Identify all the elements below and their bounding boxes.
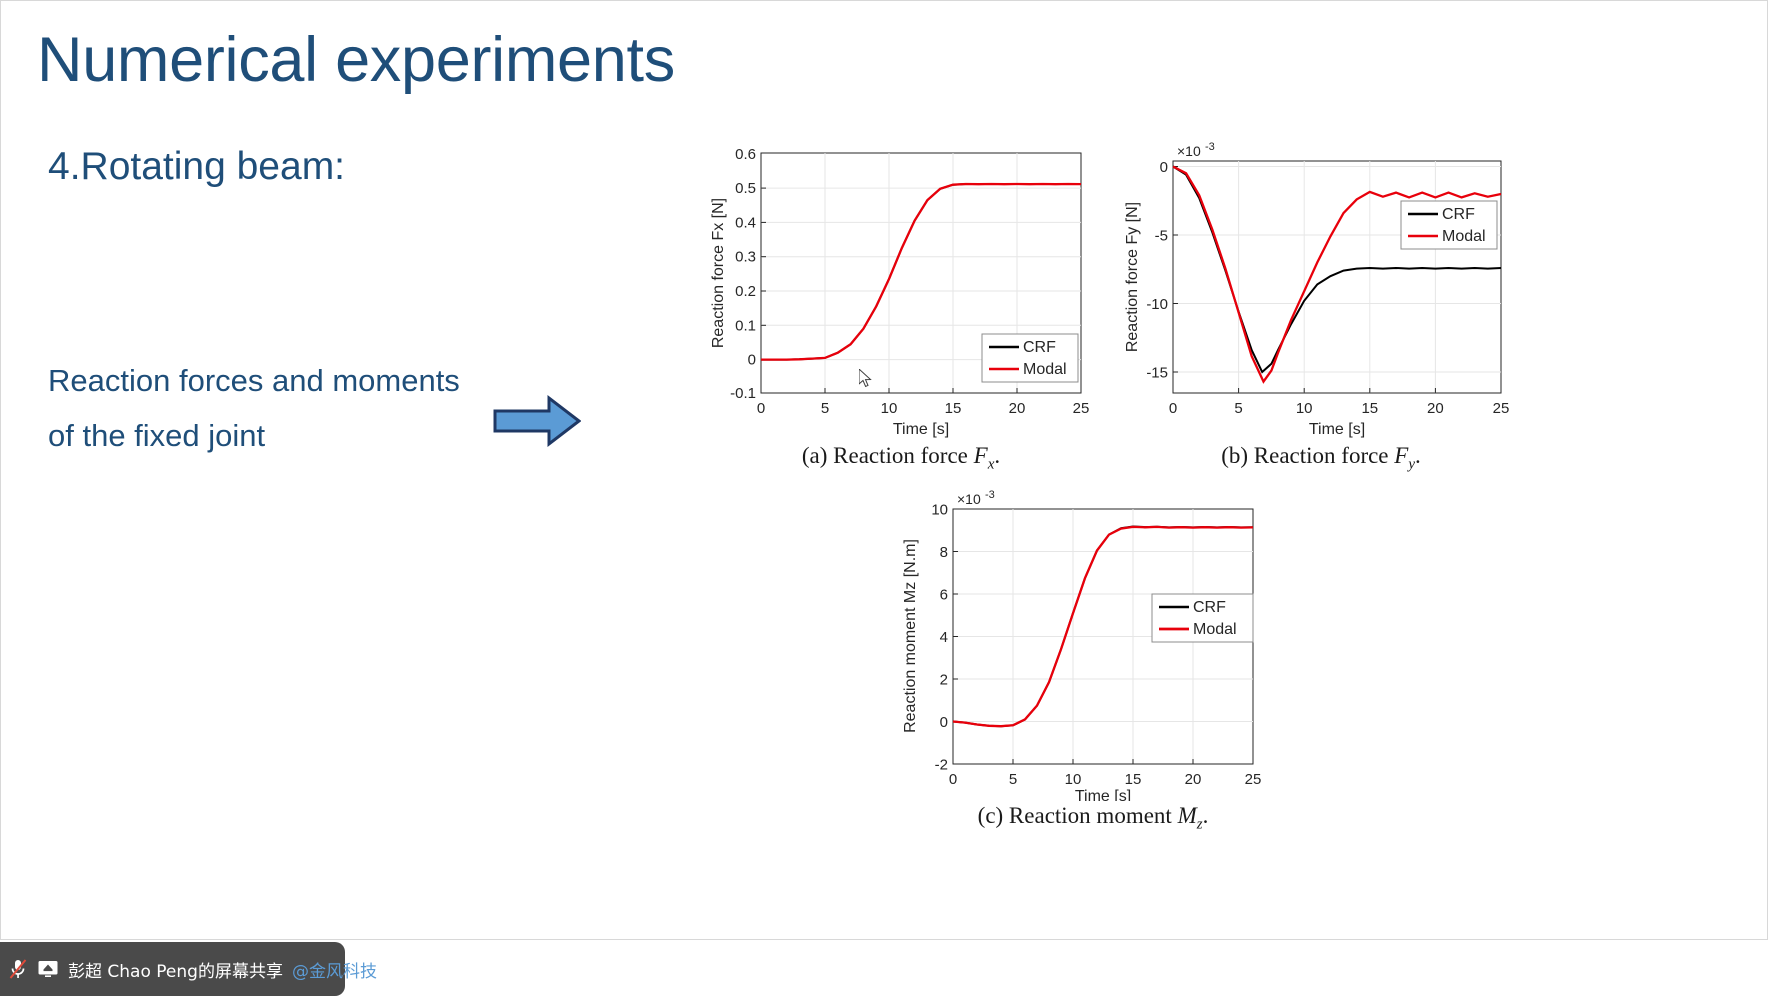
x-axis-label: Time [s] [893, 421, 949, 438]
figure-panel: -0.1 0 0.1 0.2 0.3 0.4 0.5 0.6 0 5 10 15… [701, 131, 1751, 843]
body-text: Reaction forces and moments of the fixed… [48, 353, 460, 463]
caption-b-subscript: y [1408, 457, 1415, 473]
x-tick-label: 20 [1009, 400, 1026, 417]
page-title: Numerical experiments [37, 25, 675, 96]
y-tick-label: -15 [1146, 365, 1168, 382]
share-org-text: @金风科技 [292, 957, 377, 982]
y-tick-label: 0 [940, 714, 948, 731]
figure-caption-b: (b) Reaction force Fy. [1121, 443, 1521, 474]
y-axis-exponent-power: -3 [1205, 141, 1215, 153]
x-tick-label: 25 [1493, 400, 1510, 417]
microphone-muted-icon[interactable] [8, 958, 28, 980]
chart-legend: CRF Modal [982, 334, 1078, 382]
x-tick-label: 0 [757, 400, 765, 417]
y-tick-label: 10 [931, 502, 948, 519]
x-axis-label: Time [s] [1075, 788, 1131, 801]
chart-legend: CRF Modal [1152, 594, 1253, 642]
x-tick-label: 15 [1125, 771, 1142, 788]
x-tick-label: 10 [1065, 771, 1082, 788]
caption-b-suffix: . [1415, 443, 1421, 468]
y-tick-label: 0.4 [735, 214, 756, 231]
y-axis-exponent-base: ×10 [957, 491, 981, 507]
y-tick-label: 0.3 [735, 249, 756, 266]
y-axis-exponent-power: -3 [985, 489, 995, 501]
chart-reaction-force-fx: -0.1 0 0.1 0.2 0.3 0.4 0.5 0.6 0 5 10 15… [701, 131, 1101, 441]
y-tick-label: 0.6 [735, 146, 756, 163]
x-tick-label: 25 [1073, 400, 1090, 417]
presentation-slide: Numerical experiments 4.Rotating beam: R… [0, 0, 1768, 940]
x-tick-label: 5 [1234, 400, 1242, 417]
x-tick-label: 20 [1427, 400, 1444, 417]
chart-legend: CRF Modal [1401, 201, 1497, 249]
chart-reaction-force-fy: 0 -5 -10 -15 ×10 -3 0 5 10 15 20 25 [1121, 131, 1521, 441]
x-tick-label: 5 [1009, 771, 1017, 788]
y-tick-label: -2 [935, 757, 948, 774]
y-tick-label: 0.5 [735, 180, 756, 197]
screen-share-status-bar[interactable]: 彭超 Chao Peng的屏幕共享 @金风科技 [0, 942, 345, 996]
chart-reaction-moment-mz: 10 8 6 4 2 0 -2 ×10 -3 0 5 10 15 2 [893, 481, 1293, 801]
desktop-background [345, 942, 1768, 996]
mouse-pointer-icon [859, 369, 873, 389]
figure-caption-a: (a) Reaction force Fx. [701, 443, 1101, 474]
legend-label-crf: CRF [1193, 599, 1226, 616]
y-axis-label: Reaction moment Mz [N.m] [902, 539, 919, 733]
y-tick-label: 0 [1160, 159, 1168, 176]
caption-c-suffix: . [1203, 803, 1209, 828]
caption-a-prefix: (a) Reaction force [802, 443, 974, 468]
figure-caption-c: (c) Reaction moment Mz. [893, 803, 1293, 834]
y-axis-exponent: ×10 -3 [957, 489, 995, 507]
x-tick-label: 25 [1245, 771, 1262, 788]
y-tick-label: -10 [1146, 296, 1168, 313]
legend-label-modal: Modal [1023, 361, 1067, 378]
caption-a-suffix: . [994, 443, 1000, 468]
y-tick-label: 0 [748, 352, 756, 369]
y-tick-label: 6 [940, 587, 948, 604]
y-axis-exponent-base: ×10 [1177, 143, 1201, 159]
legend-label-modal: Modal [1442, 228, 1486, 245]
y-axis-exponent: ×10 -3 [1177, 141, 1215, 159]
x-tick-label: 20 [1185, 771, 1202, 788]
y-tick-label: 4 [940, 629, 948, 646]
y-tick-label: 2 [940, 672, 948, 689]
x-tick-label: 15 [945, 400, 962, 417]
x-tick-label: 10 [1296, 400, 1313, 417]
legend-label-modal: Modal [1193, 621, 1237, 638]
y-tick-label: -5 [1155, 228, 1168, 245]
x-tick-label: 15 [1361, 400, 1378, 417]
legend-label-crf: CRF [1023, 339, 1056, 356]
caption-c-symbol: M [1178, 803, 1197, 828]
section-subtitle: 4.Rotating beam: [48, 145, 345, 189]
x-tick-label: 10 [881, 400, 898, 417]
right-arrow-icon [493, 393, 581, 449]
y-tick-label: 0.1 [735, 317, 756, 334]
x-tick-label: 0 [1169, 400, 1177, 417]
caption-a-symbol: F [974, 443, 988, 468]
x-tick-label: 5 [821, 400, 829, 417]
y-axis-label: Reaction force Fy [N] [1124, 202, 1141, 352]
body-text-line-2: of the fixed joint [48, 408, 460, 463]
legend-label-crf: CRF [1442, 206, 1475, 223]
share-status-text: 彭超 Chao Peng的屏幕共享 [68, 957, 283, 982]
caption-c-prefix: (c) Reaction moment [978, 803, 1178, 828]
y-axis-label: Reaction force Fx [N] [710, 198, 727, 348]
screen-share-icon[interactable] [37, 959, 59, 979]
body-text-line-1: Reaction forces and moments [48, 353, 460, 408]
y-tick-label: -0.1 [730, 385, 756, 402]
y-tick-label: 0.2 [735, 283, 756, 300]
caption-b-symbol: F [1394, 443, 1408, 468]
caption-b-prefix: (b) Reaction force [1221, 443, 1394, 468]
x-tick-label: 0 [949, 771, 957, 788]
y-tick-label: 8 [940, 544, 948, 561]
x-axis-label: Time [s] [1309, 421, 1365, 438]
